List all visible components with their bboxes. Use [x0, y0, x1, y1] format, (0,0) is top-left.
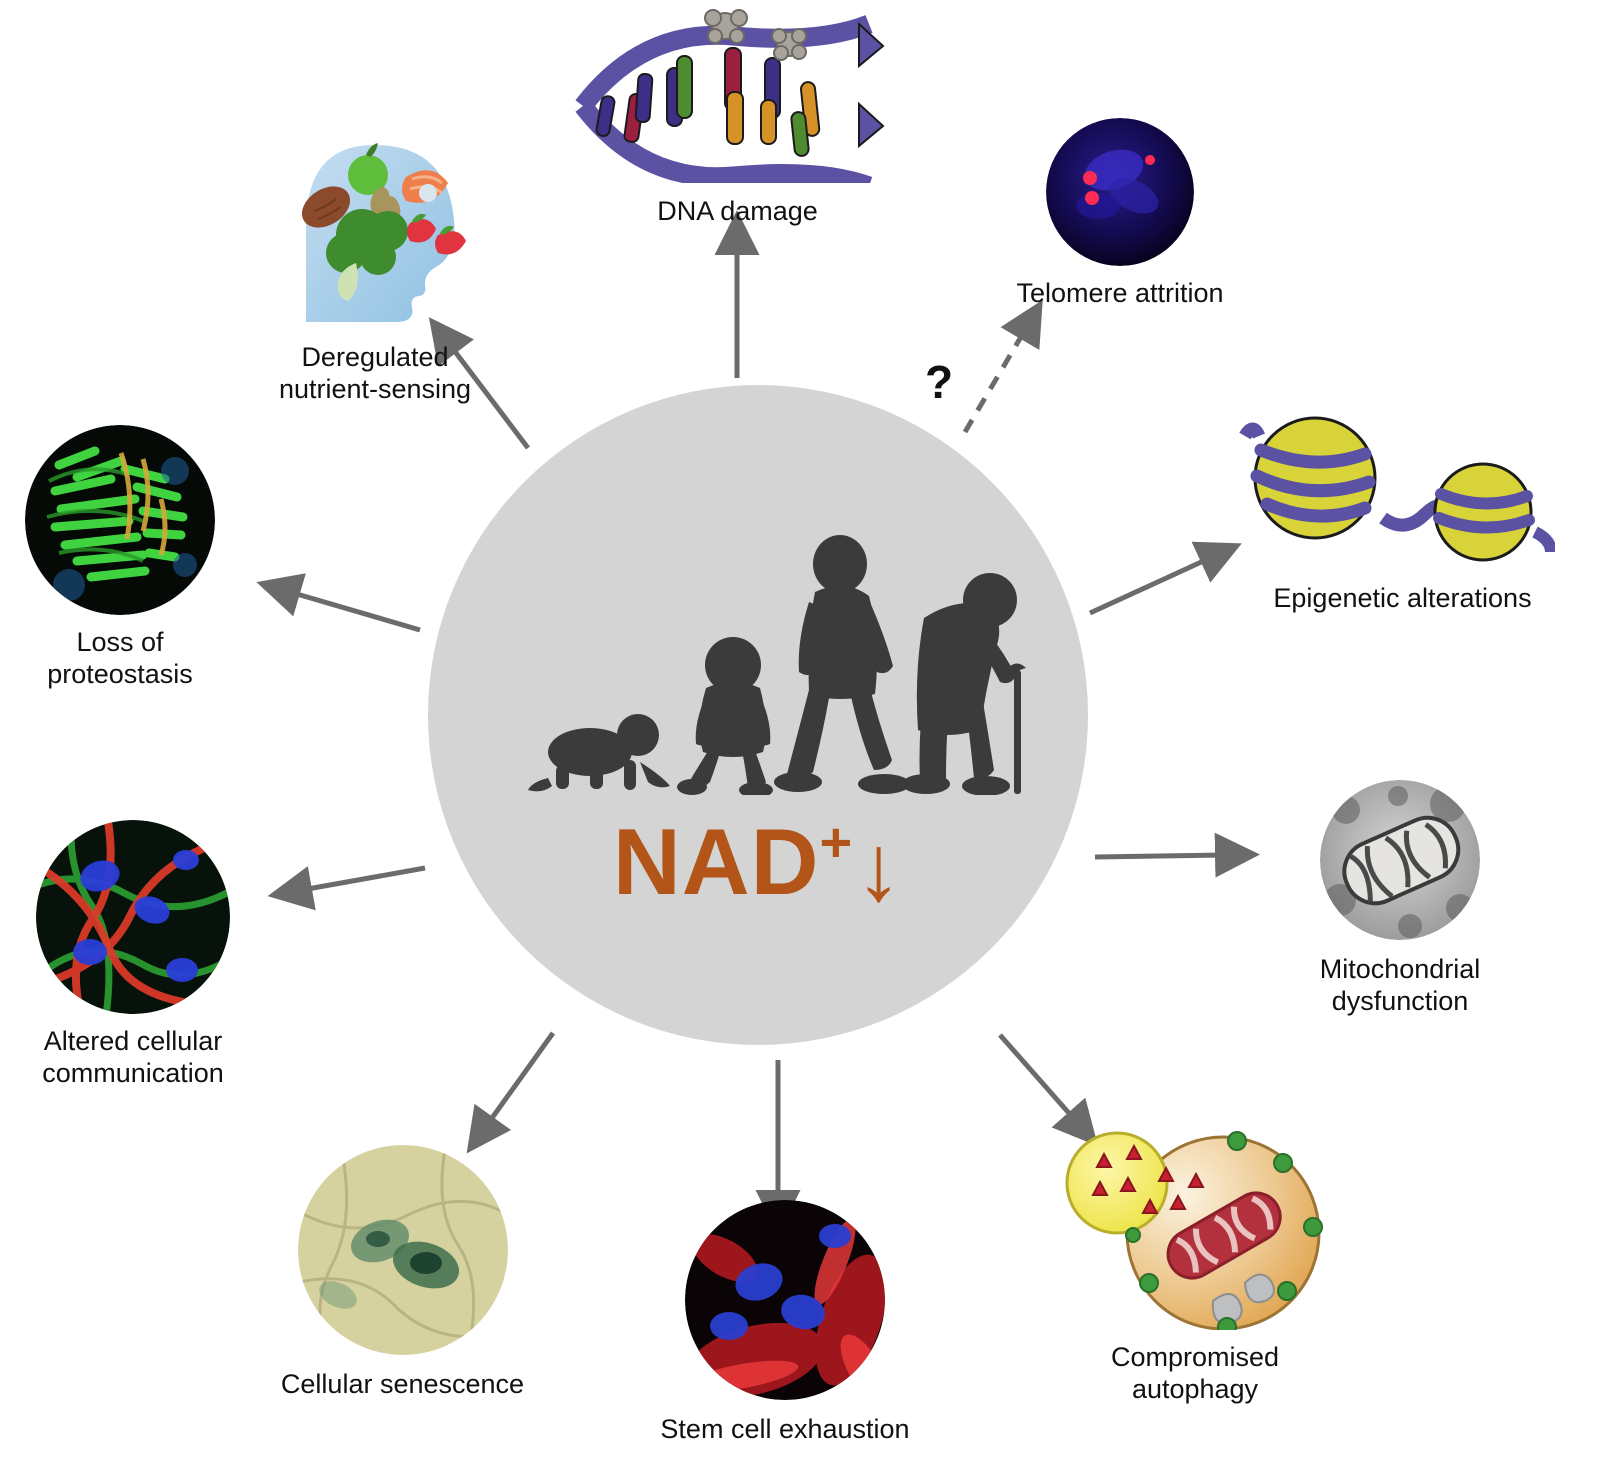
arrow-mitochondrial-dysfunction — [1095, 855, 1225, 857]
node-altered-cellular-communication[interactable]: Altered cellular communication — [18, 820, 248, 1090]
node-telomere-attrition-label: Telomere attrition — [960, 278, 1280, 310]
nad-superscript: + — [819, 811, 853, 874]
arrow-altered-cellular-communication — [302, 868, 425, 890]
node-dna-damage-label: DNA damage — [565, 196, 910, 228]
node-epigenetic-alterations[interactable]: Epigenetic alterations — [1215, 408, 1590, 615]
arrow-telomere-attrition — [965, 330, 1025, 432]
nad-decline-label: NAD+↓ — [428, 815, 1088, 915]
node-compromised-autophagy-label: Compromised autophagy — [1035, 1342, 1355, 1406]
node-loss-of-proteostasis-label: Loss of proteostasis — [0, 627, 240, 691]
mitochondrion-em-icon — [1320, 780, 1480, 940]
node-epigenetic-alterations-label: Epigenetic alterations — [1215, 583, 1590, 615]
nad-text: NAD — [613, 809, 820, 914]
down-arrow-icon: ↓ — [855, 821, 903, 915]
node-deregulated-nutrient-sensing-label: Deregulated nutrient-sensing — [240, 342, 510, 406]
node-stem-cell-exhaustion[interactable]: Stem cell exhaustion — [630, 1200, 940, 1446]
telomere-micrograph-icon — [1046, 118, 1194, 266]
node-dna-damage[interactable]: DNA damage — [565, 8, 910, 228]
figure-canvas: NAD+↓ ? — [0, 0, 1600, 1460]
node-compromised-autophagy[interactable]: Compromised autophagy — [1035, 1115, 1355, 1406]
nucleosome-icon — [1215, 408, 1555, 568]
node-mitochondrial-dysfunction[interactable]: Mitochondrial dysfunction — [1255, 780, 1545, 1018]
node-altered-cellular-communication-label: Altered cellular communication — [18, 1026, 248, 1090]
stem-cell-micrograph-icon — [685, 1200, 885, 1400]
question-mark-marker: ? — [925, 355, 953, 409]
node-deregulated-nutrient-sensing[interactable]: Deregulated nutrient-sensing — [240, 135, 510, 406]
proteasome-micrograph-icon — [25, 425, 215, 615]
node-mitochondrial-dysfunction-label: Mitochondrial dysfunction — [1255, 954, 1545, 1018]
node-cellular-senescence-label: Cellular senescence — [265, 1369, 540, 1401]
arrow-cellular-senescence — [487, 1033, 553, 1125]
node-telomere-attrition[interactable]: Telomere attrition — [960, 118, 1280, 310]
dna-helix-icon — [565, 8, 895, 183]
arrow-loss-of-proteostasis — [290, 592, 420, 630]
arrow-compromised-autophagy — [1000, 1035, 1075, 1120]
autophagosome-icon — [1055, 1115, 1335, 1330]
node-stem-cell-exhaustion-label: Stem cell exhaustion — [630, 1414, 940, 1446]
node-loss-of-proteostasis[interactable]: Loss of proteostasis — [0, 425, 240, 691]
arrow-epigenetic-alterations — [1090, 558, 1210, 613]
cell-communication-micrograph-icon — [36, 820, 230, 1014]
senescence-micrograph-icon — [298, 1145, 508, 1355]
node-cellular-senescence[interactable]: Cellular senescence — [265, 1145, 540, 1401]
aging-silhouettes-icon — [520, 520, 1040, 795]
head-nutrition-icon — [278, 135, 473, 330]
